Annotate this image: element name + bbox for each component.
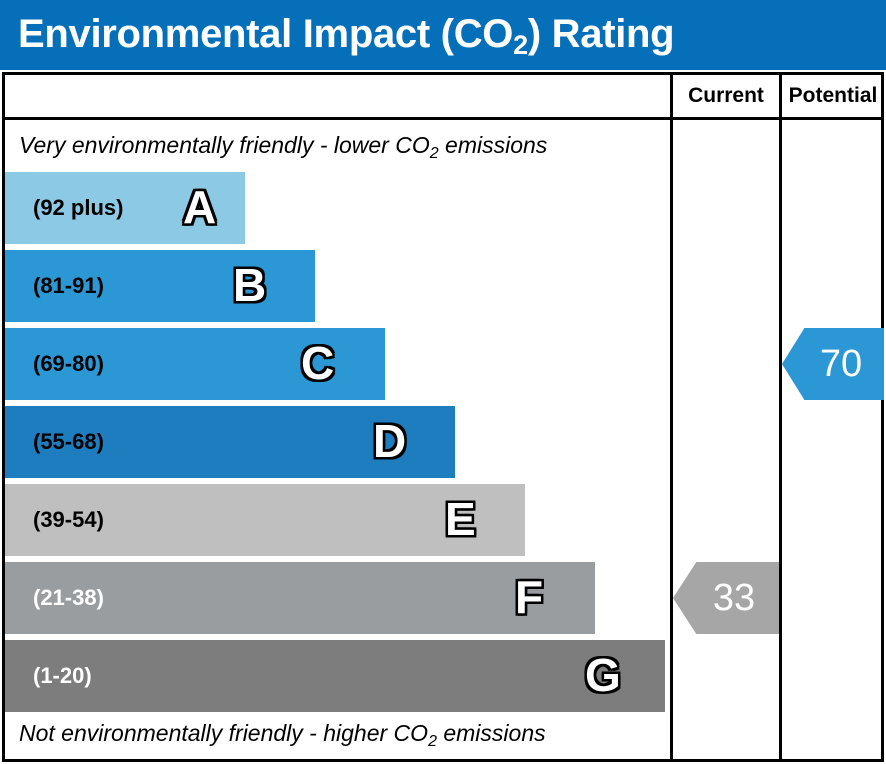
- caption-top-subscript: 2: [430, 145, 439, 162]
- band-letter-g: G: [585, 640, 621, 712]
- rating-band-e: (39-54)E: [5, 484, 525, 556]
- band-range-d: (55-68): [33, 406, 104, 478]
- rating-band-d: (55-68)D: [5, 406, 455, 478]
- rating-band-c: (69-80)C: [5, 328, 385, 400]
- title-subscript: 2: [513, 30, 528, 60]
- caption-bottom-prefix: Not environmentally friendly - higher CO: [19, 720, 428, 746]
- band-range-e: (39-54): [33, 484, 104, 556]
- chart-title-bar: Environmental Impact (CO2) Rating: [0, 0, 886, 70]
- band-letter-b: B: [233, 250, 266, 322]
- band-letter-f: F: [515, 562, 543, 634]
- band-letter-e: E: [445, 484, 476, 556]
- caption-bottom-suffix: emissions: [437, 720, 546, 746]
- rating-arrow-current: 33: [673, 562, 779, 634]
- title-prefix: Environmental Impact (CO: [18, 12, 513, 56]
- band-letter-c: C: [301, 328, 334, 400]
- title-suffix: ) Rating: [528, 12, 674, 56]
- caption-bottom: Not environmentally friendly - higher CO…: [19, 720, 546, 747]
- band-letter-d: D: [373, 406, 406, 478]
- rating-band-f: (21-38)F: [5, 562, 595, 634]
- column-header-potential: Potential: [782, 84, 884, 108]
- epc-environmental-impact-chart: Environmental Impact (CO2) Rating Curren…: [0, 0, 886, 764]
- page-title: Environmental Impact (CO2) Rating: [18, 8, 674, 64]
- band-range-b: (81-91): [33, 250, 104, 322]
- caption-top-prefix: Very environmentally friendly - lower CO: [19, 132, 430, 158]
- rating-arrow-potential: 70: [782, 328, 884, 400]
- rating-band-g: (1-20)G: [5, 640, 665, 712]
- band-bar-g: [5, 640, 665, 712]
- band-range-f: (21-38): [33, 562, 104, 634]
- caption-top: Very environmentally friendly - lower CO…: [19, 132, 547, 159]
- band-range-c: (69-80): [33, 328, 104, 400]
- rating-value-current: 33: [713, 579, 755, 617]
- rating-value-potential: 70: [820, 345, 862, 383]
- column-divider-current: [670, 75, 673, 759]
- band-letter-a: A: [183, 172, 216, 244]
- caption-top-suffix: emissions: [439, 132, 548, 158]
- column-divider-potential: [779, 75, 782, 759]
- rating-band-b: (81-91)B: [5, 250, 315, 322]
- caption-bottom-subscript: 2: [428, 733, 437, 750]
- rating-table: Current Potential Very environmentally f…: [2, 72, 884, 762]
- rating-bands: (92 plus)A(81-91)B(69-80)C(55-68)D(39-54…: [5, 172, 665, 715]
- band-range-g: (1-20): [33, 640, 92, 712]
- column-header-current: Current: [673, 84, 779, 108]
- band-range-a: (92 plus): [33, 172, 123, 244]
- rating-band-a: (92 plus)A: [5, 172, 245, 244]
